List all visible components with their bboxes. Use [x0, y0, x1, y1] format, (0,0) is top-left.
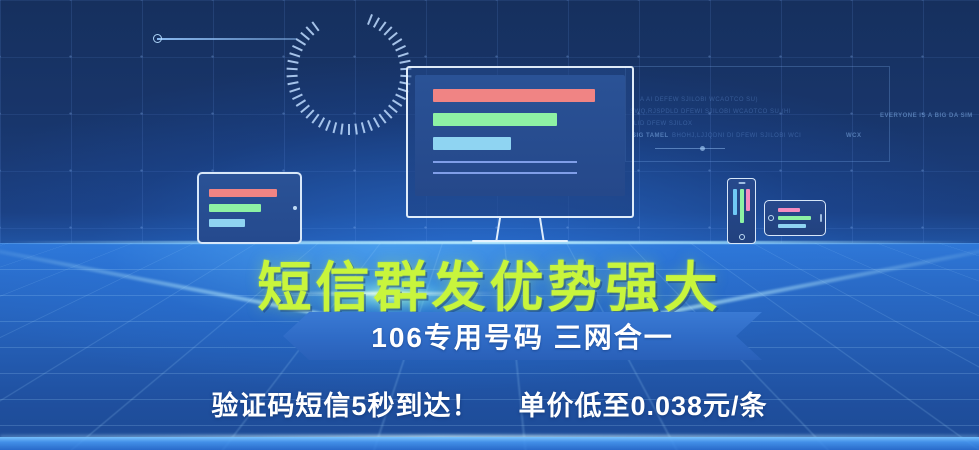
phone-hbar-pink — [778, 208, 800, 212]
tick-mark-icon — [388, 32, 398, 41]
phone-vertical-device — [727, 178, 756, 244]
tick-mark-icon — [340, 123, 343, 134]
tick-mark-icon — [318, 117, 325, 128]
tick-mark-icon — [360, 122, 365, 133]
tick-mark-icon — [295, 99, 305, 107]
tick-mark-icon — [367, 14, 373, 25]
phone-home-button-icon — [739, 234, 745, 240]
tick-circle-decoration — [285, 10, 410, 135]
monitor-stand — [406, 218, 634, 242]
tablet-bar-blue — [209, 219, 245, 227]
tick-mark-icon — [325, 120, 331, 131]
tick-mark-icon — [383, 26, 392, 35]
phone-vbar-green — [740, 189, 744, 223]
promo-banner: A AI DEFEW SJILOBI WCAOTCO SU) SWQ,RJSPD… — [0, 0, 979, 450]
tick-mark-icon — [292, 94, 303, 100]
phone-speaker-icon — [738, 182, 745, 184]
ghost-line: LID DFEW SJILOX — [634, 119, 693, 130]
monitor-bar-red — [433, 89, 595, 102]
phone-horizontal-device — [764, 200, 826, 236]
feature-ribbon-label: 106专用号码 三网合一 — [371, 316, 674, 356]
bottom-strip — [0, 437, 979, 450]
ghost-line: WCX — [846, 131, 862, 142]
tick-mark-icon — [372, 17, 379, 28]
phone-hbar-blue — [778, 224, 806, 228]
ghost-line: BHOHJ,LJJQDNI DI DFEWI SJILOBI WCI — [672, 131, 801, 142]
phone-speaker-icon — [820, 214, 822, 222]
tagline-right: 单价低至0.038元/条 — [518, 391, 767, 421]
tick-mark-icon — [391, 38, 401, 46]
monitor-bar-blue — [433, 137, 511, 150]
tick-mark-icon — [289, 87, 300, 92]
tick-mark-icon — [383, 109, 392, 118]
monitor-frame — [406, 66, 634, 218]
tick-mark-icon — [289, 52, 300, 57]
tick-mark-icon — [311, 21, 319, 31]
tick-mark-icon — [332, 122, 337, 133]
tick-mark-icon — [286, 68, 297, 71]
connector-node-icon — [153, 34, 162, 43]
monitor-line-1 — [433, 161, 577, 163]
ghost-line: SIG TAMEL — [632, 131, 669, 142]
tablet-bar-green — [209, 204, 261, 212]
tick-mark-icon — [287, 81, 298, 85]
ghost-underline — [655, 148, 725, 149]
phone-vbar-pink — [746, 189, 750, 211]
ghost-line: EVERYONE IS A BIG DA SIM — [880, 111, 973, 122]
tick-mark-icon — [305, 109, 314, 118]
tick-mark-icon — [305, 26, 314, 35]
tablet-screen — [199, 189, 300, 227]
monitor-base — [472, 240, 568, 242]
tick-mark-icon — [372, 117, 379, 128]
tick-mark-icon — [354, 123, 357, 134]
ghost-line: SWQ,RJSPDLD DFEWI SJILOBI WCAOTCO SU (HI — [630, 107, 791, 118]
ghost-node-icon — [700, 146, 705, 151]
tick-mark-icon — [367, 120, 373, 131]
tagline: 验证码短信5秒到达！ 单价低至0.038元/条 — [0, 384, 979, 423]
monitor-screen — [415, 75, 625, 196]
page-title: 短信群发优势强大 — [0, 243, 979, 322]
phone-hbar-green — [778, 216, 811, 220]
feature-ribbon: 106专用号码 三网合一 — [283, 312, 762, 360]
tablet-device — [197, 172, 302, 244]
tick-mark-icon — [287, 60, 298, 64]
tick-mark-icon — [286, 75, 297, 78]
tick-mark-icon — [395, 94, 406, 100]
phone-horizontal-screen — [774, 208, 820, 228]
tick-mark-icon — [292, 45, 303, 51]
tablet-bar-red — [209, 189, 277, 197]
phone-vertical-screen — [733, 189, 750, 231]
tick-mark-icon — [397, 52, 408, 57]
monitor-device — [406, 66, 634, 242]
ghost-line: A AI DEFEW SJILOBI WCAOTCO SU) — [640, 95, 758, 106]
tagline-left: 验证码短信5秒到达！ — [211, 391, 479, 421]
tick-mark-icon — [300, 105, 310, 114]
phone-vbar-blue — [733, 189, 737, 215]
tablet-camera-icon — [293, 206, 297, 210]
tick-mark-icon — [378, 21, 386, 31]
tick-mark-icon — [311, 114, 319, 124]
tick-mark-icon — [388, 105, 398, 114]
monitor-line-2 — [433, 172, 577, 174]
tick-mark-icon — [395, 45, 406, 51]
tick-mark-icon — [348, 124, 350, 135]
tick-mark-icon — [391, 99, 401, 107]
tick-mark-icon — [399, 60, 410, 64]
tick-mark-icon — [300, 32, 310, 41]
connector-line — [157, 38, 297, 40]
monitor-neck — [499, 218, 541, 238]
monitor-bar-green — [433, 113, 557, 126]
tick-mark-icon — [295, 38, 305, 46]
tick-mark-icon — [378, 114, 386, 124]
